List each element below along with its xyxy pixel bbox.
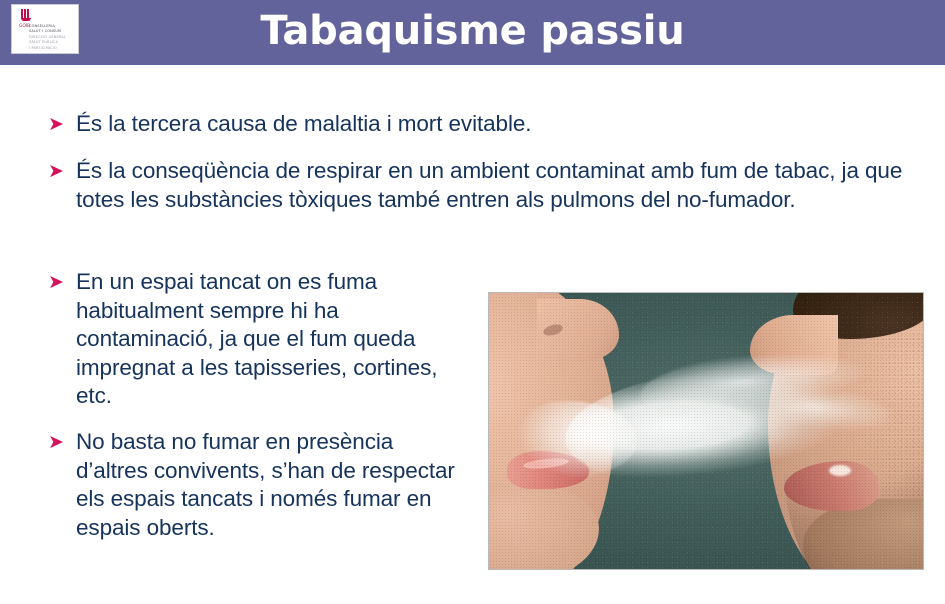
logo-line-5: I PARTICIPACIÓ [29, 46, 75, 51]
bullet-text: En un espai tancat on es fuma habitualme… [76, 268, 448, 411]
bullet-item: ➤ És la tercera causa de malaltia i mort… [48, 110, 908, 139]
bullet-text: És la tercera causa de malaltia i mort e… [76, 110, 908, 139]
bullet-item: ➤ És la conseqüència de respirar en un a… [48, 157, 910, 214]
bullet-text: No basta no fumar en presència d’altres … [76, 428, 458, 542]
conselleria-salut-logo: GOIB CONSELLERIA SALUT I CONSUM DIRECCIÓ… [11, 4, 79, 54]
bullet-item: ➤ No basta no fumar en presència d’altre… [48, 428, 458, 542]
header-band: Tabaquisme passiu [0, 0, 945, 65]
bullet-text: És la conseqüència de respirar en un amb… [76, 157, 910, 214]
logo-text-lines: CONSELLERIA SALUT I CONSUM DIRECCIÓ GENE… [29, 24, 75, 51]
page-title: Tabaquisme passiu [0, 0, 945, 65]
arrow-bullet-icon: ➤ [48, 268, 76, 297]
logo-initials: GOIB [19, 24, 27, 29]
passive-smoking-photo [488, 292, 924, 570]
arrow-bullet-icon: ➤ [48, 110, 76, 139]
bullet-item: ➤ En un espai tancat on es fuma habitual… [48, 268, 448, 411]
senyera-shield-icon [20, 9, 31, 21]
arrow-bullet-icon: ➤ [48, 157, 76, 186]
arrow-bullet-icon: ➤ [48, 428, 76, 457]
photo-lip-highlight-right [829, 465, 851, 476]
